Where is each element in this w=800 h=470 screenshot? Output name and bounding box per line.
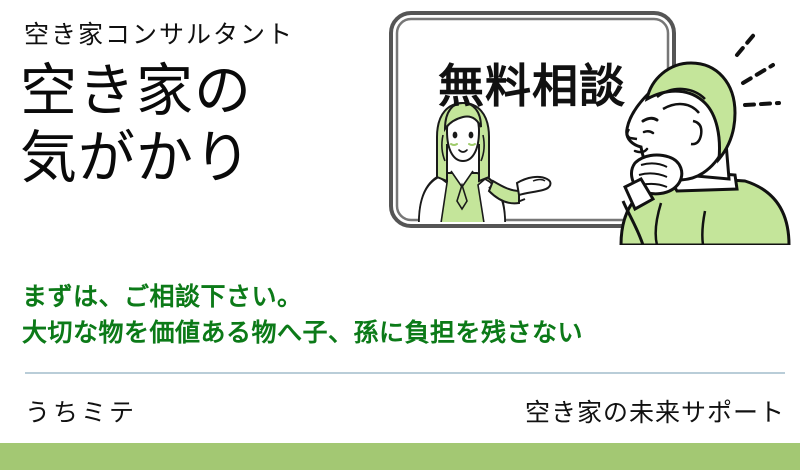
headline-line-2: 気がかり	[20, 125, 252, 192]
message-line-2: 大切な物を価値ある物へ子、孫に負担を残さない	[22, 316, 583, 352]
message-line-1: まずは、ご相談下さい。	[22, 280, 583, 316]
message-block: まずは、ご相談下さい。 大切な物を価値ある物へ子、孫に負担を残さない	[22, 280, 583, 351]
board-text: 無料相談	[438, 50, 626, 116]
brand-name: うちミテ	[25, 393, 137, 429]
page-title: 空き家の 気がかり	[20, 58, 252, 193]
footer-tagline: 空き家の未来サポート	[525, 393, 785, 429]
akiya-consultant-banner: 空き家コンサルタント 空き家の 気がかり	[0, 0, 800, 470]
idea-lines-icon	[737, 31, 779, 105]
consultation-illustration	[385, 5, 800, 245]
footer-divider	[25, 372, 785, 374]
headline-line-1: 空き家の	[20, 58, 252, 125]
eyebrow-text: 空き家コンサルタント	[24, 22, 294, 50]
bottom-accent-bar	[0, 443, 800, 470]
